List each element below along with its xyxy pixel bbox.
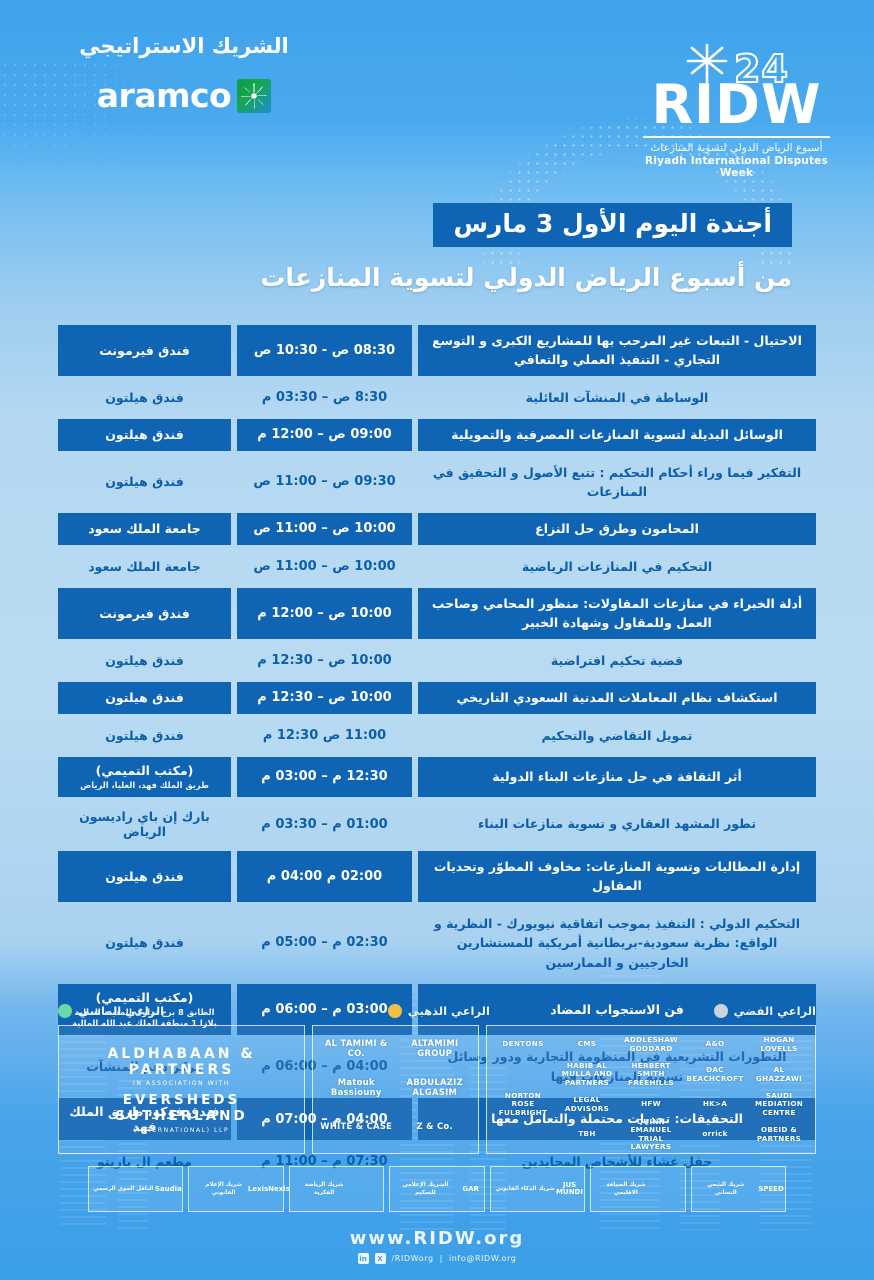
- sponsor-logo: DENTONS: [492, 1031, 554, 1058]
- sponsor-logo: HFW: [620, 1091, 682, 1118]
- session-venue: جامعة الملك سعود: [58, 513, 231, 544]
- sponsor-logo: CMS: [556, 1031, 618, 1058]
- linkedin-icon[interactable]: in: [358, 1253, 369, 1264]
- session-title: المحامون وطرق حل النزاع: [418, 513, 816, 544]
- venue-name: (مكتب التميمي): [96, 763, 194, 778]
- sponsor-logo: HK>A: [684, 1091, 746, 1118]
- session-title: أدلة الخبراء في منازعات المقاولات: منظور…: [418, 588, 816, 639]
- partner-card: SPEEDشريك الشحن النساني: [691, 1166, 786, 1212]
- partner-card: Saudiaالناقل الجوي الرسمي: [88, 1166, 183, 1212]
- agenda-subtitle: من أسبوع الرياض الدولي لتسوية المنازعات: [260, 263, 792, 292]
- partner-role-label: شريك الرياضة الفكرية: [294, 1181, 355, 1198]
- agenda-row: الوسائل البديلة لتسوية المنازعات المصرفي…: [58, 419, 816, 450]
- ridw-wordmark: RIDW: [639, 80, 834, 130]
- sponsor-logo: QUINN EMANUEL TRIAL LAWYERS: [620, 1121, 682, 1148]
- venue-name: فندق هيلتون: [105, 653, 184, 668]
- sponsor-logo: ADDLESHAW GODDARD: [620, 1031, 682, 1058]
- agenda-row: تطور المشهد العقاري و تسوية منازعات البن…: [58, 803, 816, 845]
- partner-card: LexisNexisشريك الإعلام القانوني: [188, 1166, 283, 1212]
- sponsor-tier-labels: الراعي الفضي الراعي الذهبي الراعي الماسي: [58, 1004, 816, 1018]
- diamond-line-2: EVERSHEDS SUTHERLAND: [70, 1092, 293, 1124]
- social-handle: /RIDWorg: [392, 1254, 434, 1263]
- agenda-day-badge: أجندة اليوم الأول 3 مارس: [433, 203, 792, 247]
- partner-card: GARالشريك الإعلامي للتحكيم: [389, 1166, 484, 1212]
- session-venue: فندق هيلتون: [58, 908, 231, 978]
- gold-medal-icon: [388, 1004, 402, 1018]
- sponsor-logo: HABIB AL MULLA AND PARTNERS: [556, 1061, 618, 1088]
- session-venue: فندق هيلتون: [58, 419, 231, 450]
- venue-name: فندق هيلتون: [105, 935, 184, 950]
- agenda-row: الوساطة في المنشآت العائلية8:30 ص – 03:3…: [58, 382, 816, 413]
- session-title: الوسائل البديلة لتسوية المنازعات المصرفي…: [418, 419, 816, 450]
- venue-name: فندق هيلتون: [105, 427, 184, 442]
- sponsor-logo: [492, 1121, 554, 1148]
- sponsor-logo: Z & Co.: [397, 1109, 474, 1145]
- sponsor-logo-grids: HOGAN LOVELLSA&OADDLESHAW GODDARDCMSDENT…: [58, 1025, 816, 1154]
- footer-separator: |: [440, 1254, 443, 1263]
- agenda-row: التحكيم الدولي : التنفيذ بموجب اتفاقية ن…: [58, 908, 816, 978]
- website-url[interactable]: www.RIDW.org: [0, 1228, 874, 1249]
- session-time: 09:00 ص – 12:00 م: [237, 419, 412, 450]
- x-icon[interactable]: X: [375, 1253, 386, 1264]
- session-title: الوساطة في المنشآت العائلية: [418, 382, 816, 413]
- sponsor-logo: ABDULAZIZ ALGASIM: [397, 1070, 474, 1106]
- session-venue: فندق هيلتون: [58, 382, 231, 413]
- poster-header: الشريك الاستراتيجي aramco: [0, 0, 874, 190]
- tier-diamond: الراعي الماسي: [58, 1004, 164, 1018]
- session-time: 8:30 ص – 03:30 م: [237, 382, 412, 413]
- venue-name: جامعة الملك سعود: [88, 559, 200, 574]
- tier-gold: الراعي الذهبي: [388, 1004, 490, 1018]
- session-venue: بارك إن باي راديسون الرياض: [58, 803, 231, 845]
- session-title: الاحتيال - التبعات غير المرحب بها للمشار…: [418, 325, 816, 376]
- partner-role-label: شريك الشحن النساني: [696, 1181, 756, 1198]
- agenda-row: تمويل التقاضي والتحكيم11:00 ص 12:30 مفند…: [58, 720, 816, 751]
- sponsor-logo: AL TAMIMI & CO.: [318, 1031, 395, 1067]
- sponsor-logo: A&O: [684, 1031, 746, 1058]
- aramco-logo: aramco: [69, 76, 299, 115]
- strategic-partner-label: الشريك الاستراتيجي: [69, 34, 299, 58]
- session-title: تطور المشهد العقاري و تسوية منازعات البن…: [418, 803, 816, 845]
- agenda-row: أثر الثقافة في حل منازعات البناء الدولية…: [58, 757, 816, 797]
- ridw-tagline-arabic: أسبوع الرياض الدولي لتسوية المنازعات: [639, 142, 834, 154]
- session-venue: جامعة الملك سعود: [58, 551, 231, 582]
- session-title: استكشاف نظام المعاملات المدنية السعودي ا…: [418, 682, 816, 713]
- session-title: التفكير فيما وراء أحكام التحكيم : تتبع ا…: [418, 457, 816, 508]
- venue-name: (مكتب التميمي): [96, 990, 194, 1005]
- silver-medal-icon: [714, 1004, 728, 1018]
- partner-card: شريك الرياضة الفكرية: [289, 1166, 384, 1212]
- sponsor-logo: NORTON ROSE FULBRIGHT: [492, 1091, 554, 1118]
- session-time: 10:00 ص – 11:00 ص: [237, 513, 412, 544]
- venue-name: فندق هيلتون: [105, 474, 184, 489]
- partner-role-label: الناقل الجوي الرسمي: [93, 1185, 153, 1193]
- partner-role-label: شريك الضيافة الاقليمي: [595, 1181, 656, 1198]
- palm-tree-icon: [684, 40, 730, 86]
- session-title: إدارة المطالبات وتسوية المنازعات: مخاوف …: [418, 851, 816, 902]
- session-time: 02:30 م – 05:00 م: [237, 908, 412, 978]
- diamond-line-1: ALDHABAAN & PARTNERS: [70, 1046, 293, 1078]
- partner-logo-icon: JUS MUNDI: [560, 1179, 580, 1199]
- partner-role-label: شريك الذكاء القانوني: [495, 1185, 554, 1193]
- poster-footer: www.RIDW.org in X /RIDWorg | info@RIDW.o…: [0, 1228, 874, 1264]
- sponsor-logo: HOGAN LOVELLS: [748, 1031, 810, 1058]
- sponsor-logo: orrick: [684, 1121, 746, 1148]
- session-time: 10:00 ص – 12:30 م: [237, 645, 412, 676]
- sponsor-logo: WHITE & CASE: [318, 1109, 395, 1145]
- agenda-row: المحامون وطرق حل النزاع10:00 ص – 11:00 ص…: [58, 513, 816, 544]
- contact-email[interactable]: info@RIDW.org: [449, 1254, 517, 1263]
- session-title: أثر الثقافة في حل منازعات البناء الدولية: [418, 757, 816, 797]
- agenda-row: التفكير فيما وراء أحكام التحكيم : تتبع ا…: [58, 457, 816, 508]
- session-title: التحكيم الدولي : التنفيذ بموجب اتفاقية ن…: [418, 908, 816, 978]
- agenda-row: أدلة الخبراء في منازعات المقاولات: منظور…: [58, 588, 816, 639]
- agenda-row: الاحتيال - التبعات غير المرحب بها للمشار…: [58, 325, 816, 376]
- partner-role-label: الشريك الإعلامي للتحكيم: [394, 1181, 456, 1198]
- venue-name: فندق فيرمونت: [99, 606, 190, 621]
- partner-logo-icon: [662, 1179, 681, 1199]
- partner-logo-icon: SPEED: [761, 1179, 781, 1199]
- diamond-line-3: (INTERNATIONAL) LLP: [70, 1127, 293, 1134]
- aramco-wordmark: aramco: [97, 76, 231, 115]
- sponsor-logo: HERBERT SMITH FREEHILLS: [620, 1061, 682, 1088]
- sponsor-logo: DAC BEACHCROFT: [684, 1061, 746, 1088]
- session-title: تمويل التقاضي والتحكيم: [418, 720, 816, 751]
- venue-name: فندق هيلتون: [105, 390, 184, 405]
- diamond-assoc-text: IN ASSOCIATION WITH: [70, 1080, 293, 1087]
- venue-address: طريق الملك فهد، العليا، الرياض: [80, 780, 209, 791]
- diamond-medal-icon: [58, 1004, 72, 1018]
- partner-logo-icon: LexisNexis: [259, 1179, 279, 1199]
- title-block: أجندة اليوم الأول 3 مارس من أسبوع الرياض…: [260, 203, 792, 292]
- sponsor-logo: TBH: [556, 1121, 618, 1148]
- sponsor-logo: ALTAMIMI GROUP: [397, 1031, 474, 1067]
- session-title: التحكيم في المنازعات الرياضية: [418, 551, 816, 582]
- aramco-star-icon: [237, 79, 271, 113]
- sponsor-logo: SAUDI MEDIATION CENTRE: [748, 1091, 810, 1118]
- session-venue: فندق هيلتون: [58, 645, 231, 676]
- sponsor-logo: Matouk Bassiouny: [318, 1070, 395, 1106]
- venue-name: فندق هيلتون: [105, 869, 184, 884]
- session-time: 01:00 م – 03:30 م: [237, 803, 412, 845]
- session-venue: فندق هيلتون: [58, 457, 231, 508]
- partner-card: شريك الضيافة الاقليمي: [590, 1166, 685, 1212]
- session-time: 10:00 ص – 11:00 ص: [237, 551, 412, 582]
- silver-sponsors-box: HOGAN LOVELLSA&OADDLESHAW GODDARDCMSDENT…: [486, 1025, 816, 1154]
- partner-logo-icon: Saudia: [158, 1179, 178, 1199]
- session-time: 11:00 ص 12:30 م: [237, 720, 412, 751]
- session-time: 10:00 ص – 12:30 م: [237, 682, 412, 713]
- diamond-sponsor-logo: ALDHABAAN & PARTNERS IN ASSOCIATION WITH…: [64, 1034, 299, 1146]
- tier-silver: الراعي الفضي: [714, 1004, 816, 1018]
- session-time: 10:00 ص – 12:00 م: [237, 588, 412, 639]
- sponsors-section: الراعي الفضي الراعي الذهبي الراعي الماسي…: [58, 1004, 816, 1154]
- ridw-logo: 24 RIDW أسبوع الرياض الدولي لتسوية المنا…: [639, 40, 834, 179]
- session-time: 12:30 م – 03:00 م: [237, 757, 412, 797]
- session-venue: فندق فيرمونت: [58, 588, 231, 639]
- gold-sponsors-box: ALTAMIMI GROUPAL TAMIMI & CO.ABDULAZIZ A…: [312, 1025, 479, 1154]
- strategic-partner-block: الشريك الاستراتيجي aramco: [69, 34, 299, 115]
- partner-role-label: شريك الإعلام القانوني: [193, 1181, 253, 1198]
- ridw-tagline-english: Riyadh International Disputes Week: [639, 155, 834, 179]
- session-title: قضية تحكيم افتراضية: [418, 645, 816, 676]
- session-venue: (مكتب التميمي)طريق الملك فهد، العليا، ال…: [58, 757, 231, 797]
- session-time: 08:30 ص - 10:30 ص: [237, 325, 412, 376]
- sponsor-logo: LEGAL ADVISORS: [556, 1091, 618, 1118]
- tier-gold-label: الراعي الذهبي: [408, 1004, 490, 1018]
- agenda-row: قضية تحكيم افتراضية10:00 ص – 12:30 مفندق…: [58, 645, 816, 676]
- diamond-sponsor-box: ALDHABAAN & PARTNERS IN ASSOCIATION WITH…: [58, 1025, 305, 1154]
- venue-name: فندق فيرمونت: [99, 343, 190, 358]
- tier-diamond-label: الراعي الماسي: [78, 1004, 164, 1018]
- partner-strip: SPEEDشريك الشحن النسانيشريك الضيافة الاق…: [88, 1166, 786, 1212]
- partner-logo-icon: [359, 1179, 379, 1199]
- sponsor-logo: AL GHAZZAWI: [748, 1061, 810, 1088]
- session-venue: فندق هيلتون: [58, 720, 231, 751]
- partner-logo-icon: GAR: [462, 1179, 480, 1199]
- logo-divider: [643, 136, 830, 138]
- session-venue: فندق هيلتون: [58, 682, 231, 713]
- venue-name: جامعة الملك سعود: [88, 521, 200, 536]
- agenda-row: التحكيم في المنازعات الرياضية10:00 ص – 1…: [58, 551, 816, 582]
- sponsor-logo: [492, 1061, 554, 1088]
- partner-card: JUS MUNDIشريك الذكاء القانوني: [490, 1166, 585, 1212]
- session-venue: فندق فيرمونت: [58, 325, 231, 376]
- agenda-row: استكشاف نظام المعاملات المدنية السعودي ا…: [58, 682, 816, 713]
- session-time: 02:00 م 04:00 م: [237, 851, 412, 902]
- venue-name: فندق هيلتون: [105, 690, 184, 705]
- agenda-row: إدارة المطالبات وتسوية المنازعات: مخاوف …: [58, 851, 816, 902]
- sponsor-logo: OBEID & PARTNERS: [748, 1121, 810, 1148]
- venue-name: فندق هيلتون: [105, 728, 184, 743]
- session-time: 09:30 ص – 11:00 ص: [237, 457, 412, 508]
- venue-name: بارك إن باي راديسون الرياض: [68, 809, 221, 839]
- session-venue: فندق هيلتون: [58, 851, 231, 902]
- tier-silver-label: الراعي الفضي: [734, 1004, 816, 1018]
